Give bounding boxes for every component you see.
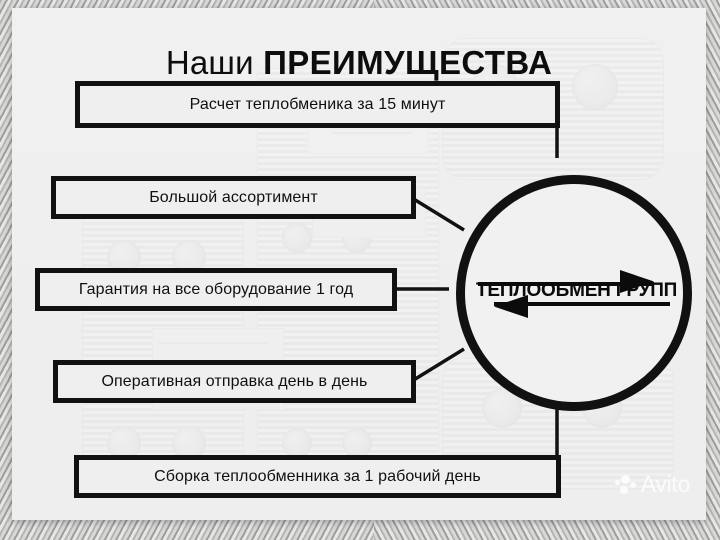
feature-box-shipping[interactable]: Оперативная отправка день в день <box>53 360 416 403</box>
avito-wordmark: Avito <box>641 471 690 498</box>
screenshot-stage: EAC Наши ПРЕИМУЩЕСТВА <box>0 0 720 540</box>
page-title-regular: Наши <box>166 44 263 81</box>
feature-label: Сборка теплообменника за 1 рабочий день <box>154 468 481 486</box>
logo-wordmark: ТЕПЛООБМЕН ГРУПП <box>476 280 672 302</box>
logo-circle[interactable]: ТЕПЛООБМЕН ГРУПП <box>456 175 692 411</box>
avito-watermark: Avito <box>615 471 690 498</box>
feature-box-assortment[interactable]: Большой ассортимент <box>51 176 416 219</box>
page-title-bold: ПРЕИМУЩЕСТВА <box>263 44 552 81</box>
feature-box-warranty[interactable]: Гарантия на все оборудование 1 год <box>35 268 397 311</box>
poster-sheet: EAC Наши ПРЕИМУЩЕСТВА <box>12 8 706 520</box>
avito-logo-icon <box>615 475 637 495</box>
feature-box-calc-time[interactable]: Расчет теплобменика за 15 минут <box>75 81 560 128</box>
feature-label: Оперативная отправка день в день <box>102 373 368 391</box>
page-title: Наши ПРЕИМУЩЕСТВА <box>12 44 706 82</box>
feature-label: Расчет теплобменика за 15 минут <box>190 96 446 114</box>
feature-box-assembly[interactable]: Сборка теплообменника за 1 рабочий день <box>74 455 561 498</box>
feature-label: Большой ассортимент <box>149 189 318 207</box>
logo-mark: ТЕПЛООБМЕН ГРУПП <box>476 266 672 320</box>
feature-label: Гарантия на все оборудование 1 год <box>79 281 353 299</box>
